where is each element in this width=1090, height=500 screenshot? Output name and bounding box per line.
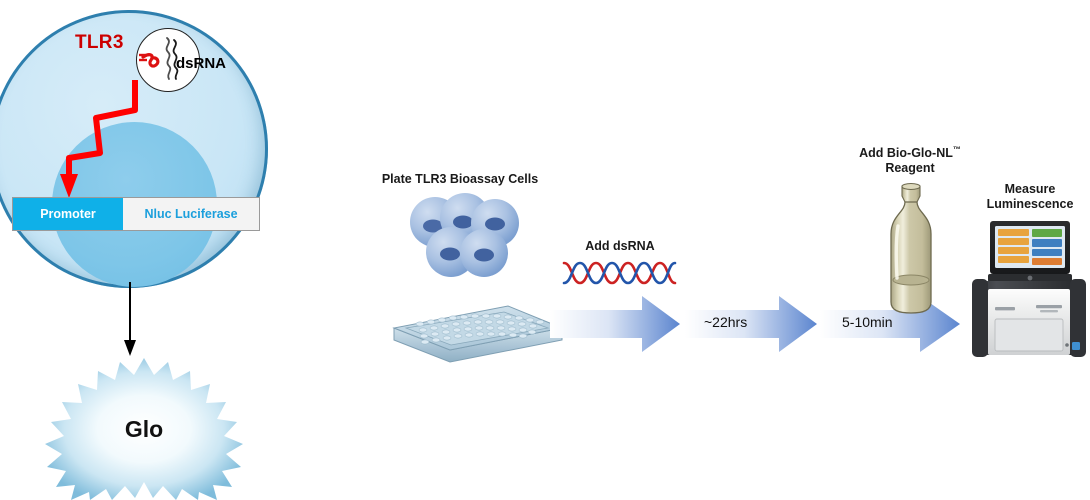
bioassay-cells-icon: [405, 190, 525, 285]
reagent-bottle-icon: [880, 182, 942, 317]
assay-workflow-panel: Plate TLR3 Bioassay Cells Add dsRNA Add …: [300, 0, 1090, 500]
arrow-label-incubation: ~22hrs: [704, 314, 747, 330]
luminometer-icon: [968, 203, 1090, 363]
glo-burst-shape: [38, 358, 250, 500]
microplate-icon: [390, 288, 565, 363]
workflow-arrow-1: [550, 294, 680, 354]
caption-add-dsrna: Add dsRNA: [555, 239, 685, 254]
reporter-construct: Promoter Nluc Luciferase: [12, 197, 260, 231]
downstream-arrow-icon: [100, 282, 160, 364]
cell-schematic-panel: TLR3 dsRNA Promoter Nluc Luciferase: [0, 0, 300, 500]
nluc-luciferase-box: Nluc Luciferase: [123, 198, 259, 230]
dsrna-helix-icon: [562, 258, 677, 288]
caption-add-reagent: Add Bio-Glo-NL™ Reagent: [825, 145, 995, 176]
trademark-symbol: ™: [953, 145, 961, 154]
caption-reagent-line2: Reagent: [885, 161, 934, 175]
signal-transduction-arrow: [0, 0, 300, 300]
caption-plate-cells: Plate TLR3 Bioassay Cells: [360, 172, 560, 187]
promoter-box: Promoter: [13, 198, 123, 230]
caption-reagent-line1: Add Bio-Glo-NL: [859, 146, 953, 160]
caption-measure-line1: Measure: [1005, 182, 1056, 196]
